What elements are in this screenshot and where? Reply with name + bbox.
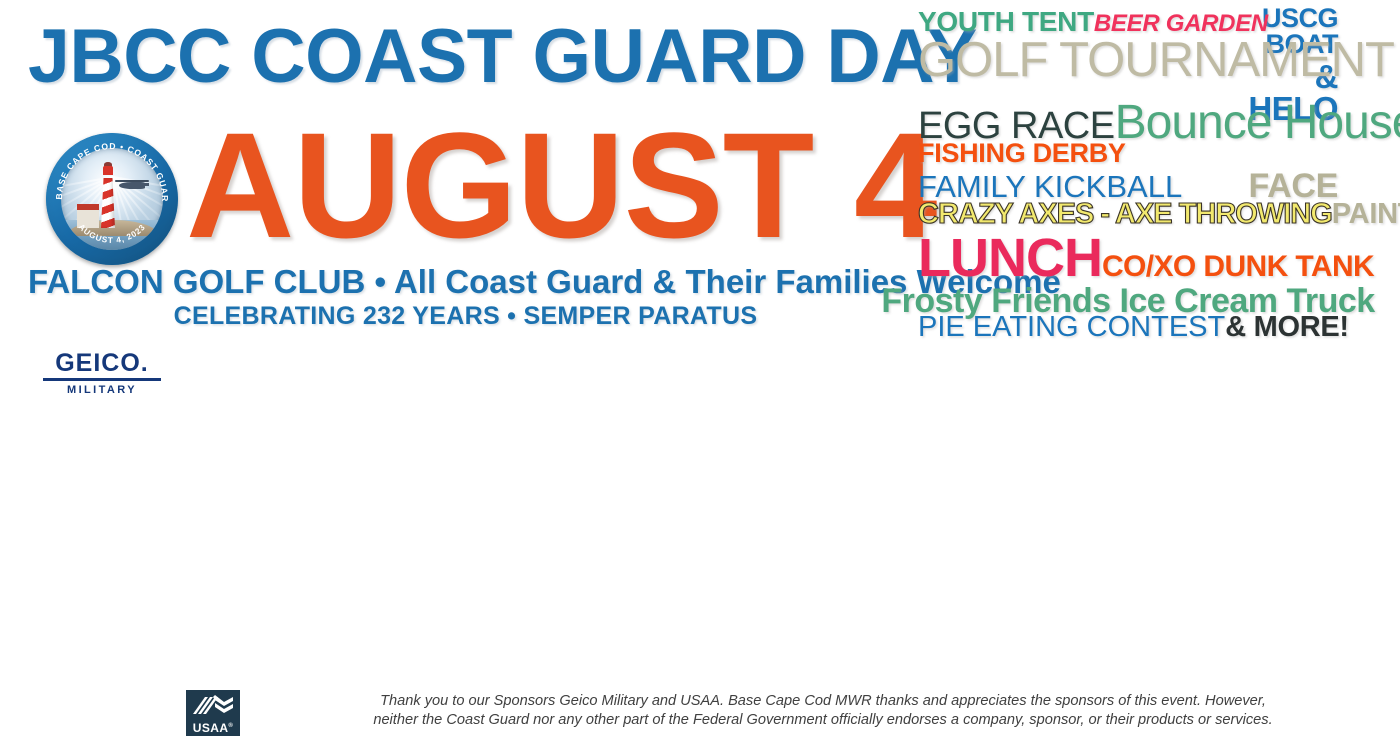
usaa-text: USAA	[193, 721, 229, 735]
usaa-flag-icon	[191, 693, 235, 719]
activity-lunch: LUNCH	[918, 231, 1102, 285]
emblem-scene	[61, 148, 163, 250]
keeper-house-icon	[77, 204, 99, 228]
activity-golf-tournament: GOLF TOURNAMENT	[918, 36, 1394, 85]
activity-co-xo-dunk-tank: CO/XO DUNK TANK	[1102, 252, 1374, 282]
activity-row: LUNCHCO/XO DUNK TANK	[918, 231, 1338, 285]
helicopter-icon	[115, 178, 149, 190]
activity-youth-tent: YOUTH TENT	[918, 8, 1094, 36]
geico-underline-bar	[43, 378, 161, 381]
geico-military-logo: GEICO. MILITARY	[40, 350, 164, 396]
sponsor-footer: GEICO. MILITARY USAA® Thank you to our S…	[0, 342, 1400, 400]
activity-row: FISHING DERBY	[918, 140, 1338, 167]
disclaimer-line-1: Thank you to our Sponsors Geico Military…	[258, 692, 1388, 711]
activity-fishing-derby: FISHING DERBY	[918, 140, 1126, 167]
venue-and-audience-line: FALCON GOLF CLUB • All Coast Guard & The…	[28, 264, 903, 300]
disclaimer-line-2: neither the Coast Guard nor any other pa…	[258, 711, 1388, 730]
activity-row: CRAZY AXES - AXE THROWINGPAINTING	[918, 200, 1338, 229]
event-date: AUGUST 4	[186, 110, 902, 260]
lighthouse-icon	[99, 166, 117, 228]
activity-painting: PAINTING	[1332, 200, 1400, 229]
geico-military-label: MILITARY	[40, 384, 164, 396]
activity-crazy-axes-axe-throwing: CRAZY AXES - AXE THROWING	[918, 200, 1332, 229]
activity-row: YOUTH TENTBEER GARDEN	[918, 8, 1234, 36]
activity-row: PIE EATING CONTEST& MORE!	[918, 313, 1338, 342]
event-headline-panel: JBCC COAST GUARD DAY	[0, 0, 910, 340]
coast-guard-day-banner: JBCC COAST GUARD DAY	[0, 0, 1400, 400]
geico-wordmark: GEICO.	[40, 350, 164, 376]
page-title: JBCC COAST GUARD DAY	[28, 18, 894, 96]
activity-pie-eating-contest: PIE EATING CONTEST	[918, 313, 1225, 342]
activity-row: GOLF TOURNAMENT	[918, 36, 1234, 85]
celebrating-years-line: CELEBRATING 232 YEARS • SEMPER PARATUS	[28, 302, 903, 330]
sponsor-disclaimer: Thank you to our Sponsors Geico Military…	[258, 692, 1388, 730]
usaa-logo: USAA®	[186, 690, 240, 736]
usaa-registered-mark: ®	[228, 723, 233, 729]
activity-more: & MORE!	[1225, 313, 1349, 342]
jbcc-coast-guard-day-emblem: JOINT BASE CAPE COD • COAST GUARD DAY AU…	[46, 133, 178, 265]
activities-word-cloud: USCG BOAT & HELO YOUTH TENTBEER GARDENGO…	[918, 0, 1338, 342]
usaa-wordmark: USAA®	[193, 720, 233, 734]
